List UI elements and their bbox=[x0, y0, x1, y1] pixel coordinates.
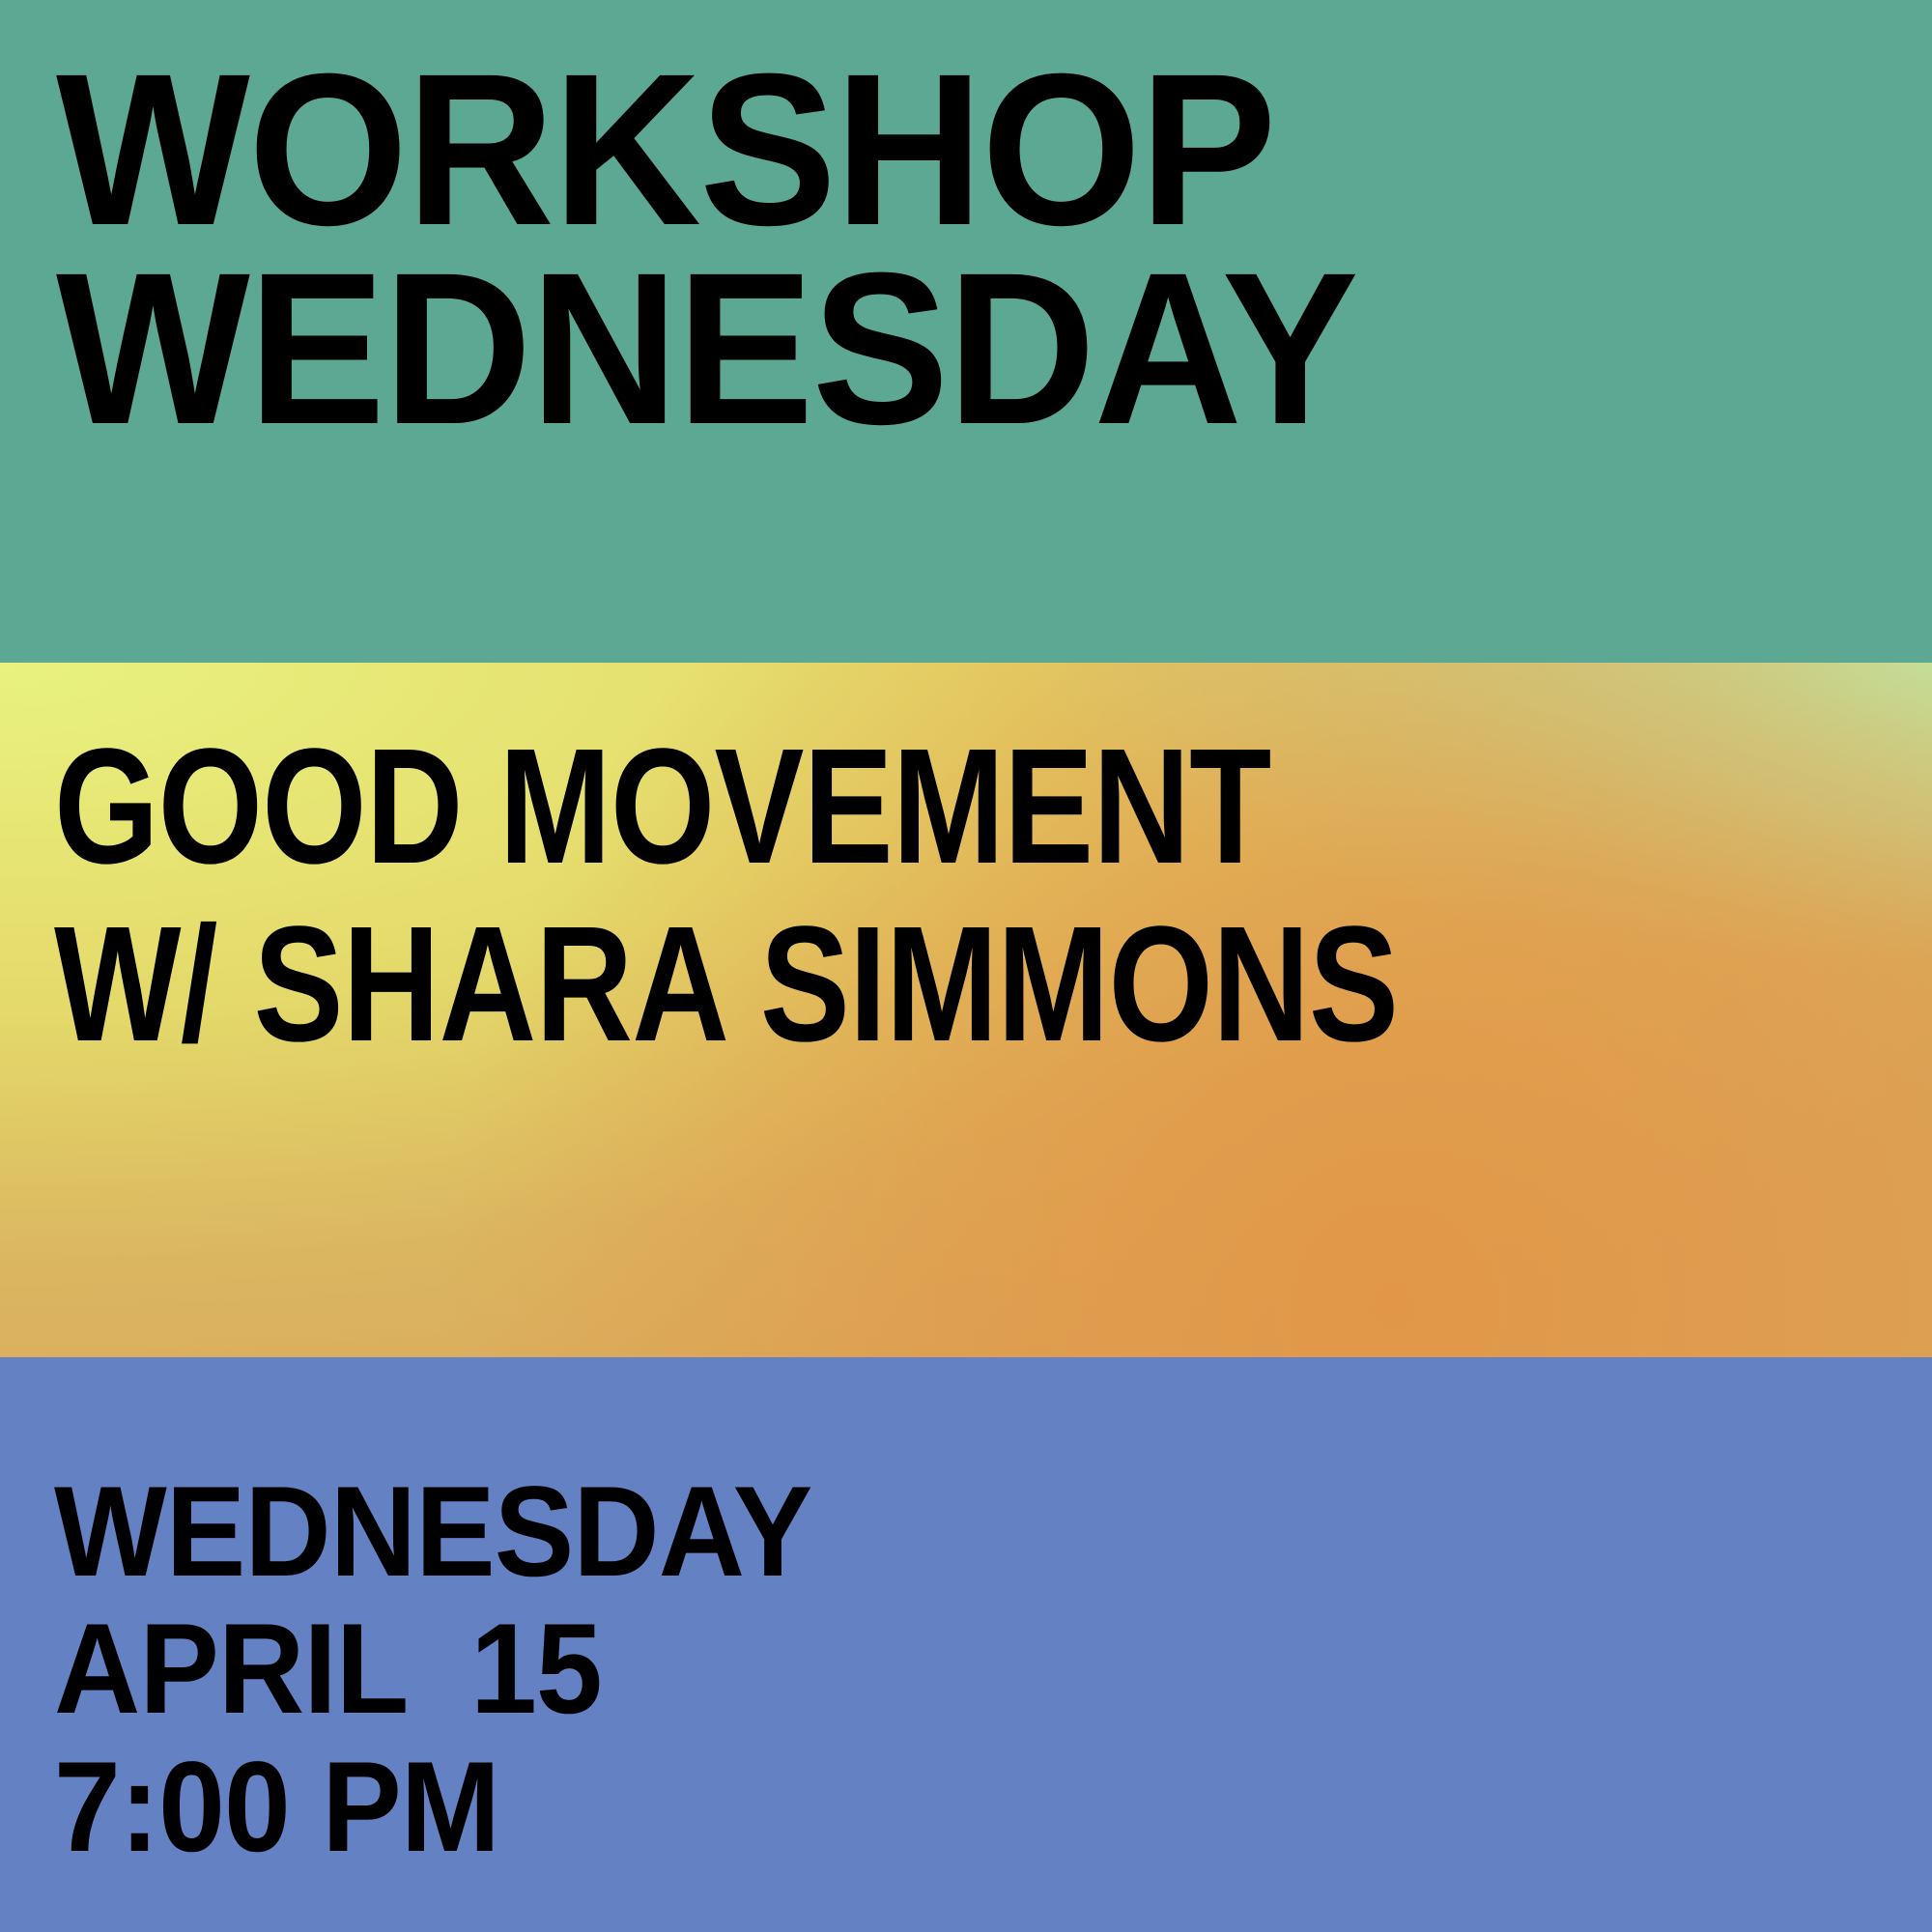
session-title-line-2: W/ SHARA SIMMONS bbox=[54, 896, 1559, 1074]
title-line-workshop: WORKSHOP bbox=[56, 50, 1800, 249]
detail-day: WEDNESDAY bbox=[54, 1463, 1042, 1601]
session-title: GOOD MOVEMENT W/ SHARA SIMMONS bbox=[54, 719, 1889, 1073]
header-band: WORKSHOP WEDNESDAY bbox=[0, 0, 1932, 663]
title-line-wednesday: WEDNESDAY bbox=[56, 249, 1800, 448]
detail-date: APRIL 15 bbox=[54, 1601, 1042, 1738]
event-poster: WORKSHOP WEDNESDAY GOOD MOVEMENT W/ SHAR… bbox=[0, 0, 1932, 1932]
details-band: WEDNESDAY APRIL 15 7:00 PM eukinetics CR… bbox=[0, 1357, 1932, 1932]
session-title-line-1: GOOD MOVEMENT bbox=[54, 719, 1559, 896]
page-title: WORKSHOP WEDNESDAY bbox=[56, 50, 1891, 448]
detail-time: 7:00 PM bbox=[54, 1739, 1042, 1876]
event-details: WEDNESDAY APRIL 15 7:00 PM bbox=[54, 1463, 1117, 1876]
session-band: GOOD MOVEMENT W/ SHARA SIMMONS bbox=[0, 663, 1932, 1357]
